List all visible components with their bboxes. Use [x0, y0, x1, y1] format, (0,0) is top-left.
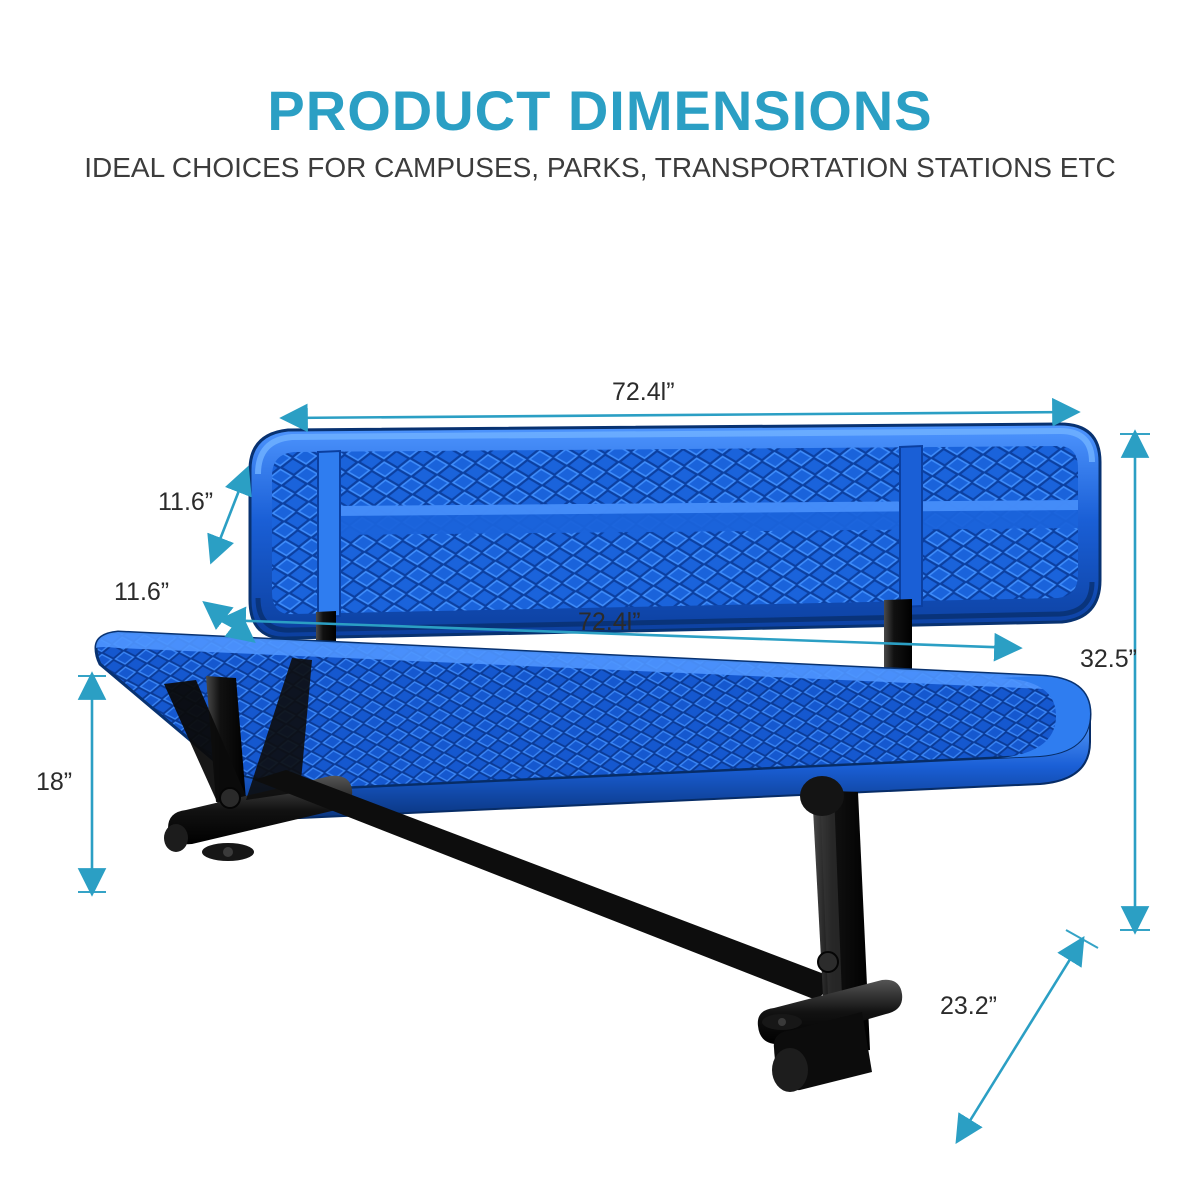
dim-line-backrest-length — [284, 412, 1076, 418]
label-backrest-height: 11.6” — [158, 488, 213, 517]
label-seat-length: 72.4l” — [578, 608, 641, 637]
bench-illustration — [0, 0, 1200, 1200]
label-overall-height: 32.5” — [1080, 645, 1137, 674]
label-backrest-length: 72.4l” — [612, 378, 675, 407]
bench-backrest — [250, 424, 1100, 638]
label-seat-depth: 11.6” — [114, 578, 169, 607]
product-dimensions-diagram: PRODUCT DIMENSIONS IDEAL CHOICES FOR CAM… — [0, 0, 1200, 1200]
label-base-depth: 23.2” — [940, 992, 997, 1021]
label-seat-height: 18” — [36, 768, 72, 797]
bench-leg-right — [254, 770, 902, 1092]
dim-line-base-depth — [958, 940, 1082, 1140]
dim-line-backrest-height — [212, 470, 247, 560]
